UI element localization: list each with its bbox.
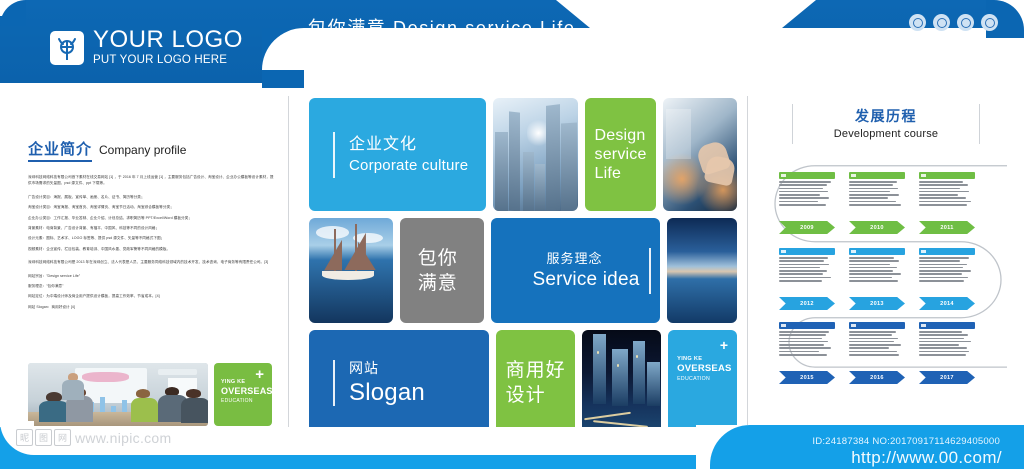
tile-row-2: 包你 满意 服务理念 Service idea	[309, 218, 737, 323]
target-icon[interactable]	[909, 14, 926, 31]
tile-bao-ni-man-yi[interactable]: 包你 满意	[400, 218, 484, 323]
tile-title-cn: 网站	[349, 359, 425, 378]
tile-badge-line-2: OVERSEAS	[677, 363, 731, 374]
timeline: 200920102011 201220132014 201520162017	[757, 158, 1015, 408]
timeline-card[interactable]	[849, 172, 905, 207]
timeline-card-header	[849, 172, 905, 179]
timeline-card-text-lines	[849, 257, 905, 282]
timeline-card[interactable]	[779, 172, 835, 207]
watermark-char-1: 昵	[16, 429, 33, 446]
tile-badge-line-1: YING KE	[677, 356, 731, 362]
timeline-card-header	[779, 172, 835, 179]
logo-subtitle: PUT YOUR LOGO HERE	[93, 53, 243, 67]
timeline-card-text-lines	[919, 257, 975, 282]
timeline-card[interactable]	[919, 172, 975, 207]
timeline-year-arrow[interactable]: 2009	[779, 221, 835, 234]
tile-corporate-culture[interactable]: 企业文化 Corporate culture	[309, 98, 486, 211]
timeline-card-header	[919, 172, 975, 179]
tile-title-en: Corporate culture	[349, 156, 468, 176]
timeline-card[interactable]	[849, 248, 905, 283]
heading-rule-left	[792, 104, 793, 144]
header-icon-group	[909, 14, 998, 31]
development-course-title-en: Development course	[786, 128, 986, 140]
target-icon[interactable]	[957, 14, 974, 31]
timeline-card-text-lines	[779, 257, 835, 282]
timeline-arrows-row-2: 201220132014	[779, 297, 1007, 310]
header-trapezoid-notch	[556, 0, 816, 30]
badge-line-3: EDUCATION	[221, 398, 266, 404]
profile-paragraph: 深圳科技网络科技有限公司首下素材在线交易网站 [1] ，于 2016 年 7 月…	[28, 174, 274, 187]
tile-sea-horizon-photo[interactable]	[667, 218, 737, 323]
header-top-left-notch	[0, 0, 26, 16]
tile-row-1: 企业文化 Corporate culture Design service Li…	[309, 98, 737, 211]
development-course-heading: 发展历程 Development course	[786, 100, 986, 144]
profile-paragraph: 广告设计类目：海报、展板、宣传单、画册、名片、证书、简历等分类；	[28, 194, 274, 200]
tile-commercial-good-design[interactable]: 商用好 设计	[496, 330, 576, 436]
logo[interactable]: YOUR LOGO PUT YOUR LOGO HERE	[50, 28, 243, 67]
timeline-year-arrow[interactable]: 2011	[919, 221, 975, 234]
timeline-card-header	[849, 248, 905, 255]
tile-accent-rule	[333, 360, 335, 406]
company-profile-section: 企业简介 Company profile 深圳科技网络科技有限公司首下素材在线交…	[28, 138, 274, 314]
logo-title: YOUR LOGO	[93, 28, 243, 52]
timeline-year-arrow[interactable]: 2015	[779, 371, 835, 384]
profile-paragraph: 网站宗旨："Design service Life"	[28, 273, 274, 279]
poster-canvas: YOUR LOGO PUT YOUR LOGO HERE 包你满意 Design…	[0, 0, 1024, 469]
timeline-card[interactable]	[779, 322, 835, 357]
company-profile-title-en: Company profile	[99, 143, 186, 157]
timeline-arrows-row-3: 201520162017	[779, 371, 1007, 384]
timeline-year-arrow[interactable]: 2017	[919, 371, 975, 384]
development-course-title-cn: 发展历程	[786, 106, 986, 126]
timeline-year-arrow[interactable]: 2012	[779, 297, 835, 310]
badge-line-2: OVERSEAS	[221, 386, 266, 396]
timeline-card[interactable]	[849, 322, 905, 357]
timeline-card[interactable]	[779, 248, 835, 283]
tile-title-en: Design service Life	[595, 126, 647, 183]
plus-icon: +	[255, 367, 264, 382]
divider-right	[747, 96, 748, 448]
profile-paragraph: 背景素材：电商背景、广告设计背景、有福平、中国风、科技等不同的设计风格；	[28, 225, 274, 231]
timeline-card-header	[779, 248, 835, 255]
tile-title-en: Service idea	[531, 267, 651, 292]
profile-paragraph: 深圳科技网络科技有限公司是 2013 年在深圳创立、法人代表是人员、主要服务同络…	[28, 259, 274, 265]
target-icon[interactable]	[981, 14, 998, 31]
tile-title-cn: 商用好 设计	[506, 358, 566, 408]
tile-sailing-ship-photo[interactable]	[309, 218, 393, 323]
tile-title-cn: 包你 满意	[418, 246, 458, 296]
timeline-card-text-lines	[919, 331, 975, 356]
timeline-card-header	[779, 322, 835, 329]
timeline-cards-row-3	[779, 322, 1007, 357]
bull-head-logo-icon	[50, 31, 84, 65]
timeline-cards-row-1	[779, 172, 1007, 207]
tile-business-tech-photo[interactable]	[663, 98, 737, 211]
profile-paragraph: 淘宝设计类目：淘宝海报、淘宝首页、淘宝详情页、淘宝节日活动、淘宝综合模板等分类；	[28, 204, 274, 210]
tile-website-slogan[interactable]: 网站 Slogan	[309, 330, 489, 436]
watermark-boxes: 昵 图 网	[16, 429, 71, 446]
tile-service-idea[interactable]: 服务理念 Service idea	[491, 218, 661, 323]
timeline-card-text-lines	[849, 331, 905, 356]
tile-title-cn: 企业文化	[349, 134, 468, 156]
company-profile-body: 深圳科技网络科技有限公司首下素材在线交易网站 [1] ，于 2016 年 7 月…	[28, 174, 274, 310]
profile-paragraph: 服务理念："包你满意"	[28, 283, 274, 289]
feature-tile-grid: 企业文化 Corporate culture Design service Li…	[309, 98, 737, 443]
profile-paragraph: 视频素材：企业宣传、栏目包装、教育培训、中国风水墨、党政军警等不同风格的模板。	[28, 246, 274, 252]
tile-title-en: Slogan	[349, 378, 425, 407]
heading-rule-right	[979, 104, 980, 144]
timeline-card-text-lines	[779, 331, 835, 356]
timeline-card-text-lines	[849, 181, 905, 206]
timeline-year-arrow[interactable]: 2016	[849, 371, 905, 384]
ying-ke-overseas-badge: + YING KE OVERSEAS EDUCATION	[214, 363, 272, 426]
footer-id-text: ID:24187384 NO:20170917114629405000	[812, 436, 1000, 447]
company-profile-title-cn: 企业简介	[28, 138, 92, 162]
timeline-year-arrow[interactable]: 2014	[919, 297, 975, 310]
timeline-arrows-row-1: 200920102011	[779, 221, 1007, 234]
tile-city-photo-bright[interactable]	[493, 98, 578, 211]
timeline-card-header	[919, 322, 975, 329]
timeline-card-text-lines	[919, 181, 975, 206]
header-white-cutout-corner	[262, 28, 304, 88]
timeline-card[interactable]	[919, 248, 975, 283]
footer-right-curve-mask	[696, 425, 756, 469]
watermark-char-3: 网	[54, 429, 71, 446]
footer-site-url: http://www.00.com/	[851, 448, 1002, 468]
logo-text: YOUR LOGO PUT YOUR LOGO HERE	[93, 28, 243, 67]
company-profile-heading: 企业简介 Company profile	[28, 138, 274, 162]
timeline-card-header	[919, 248, 975, 255]
header-title: 包你满意 Design service Life	[308, 14, 575, 40]
tile-badge-line-3: EDUCATION	[677, 376, 731, 382]
tile-row-3: 网站 Slogan 商用好 设计	[309, 330, 737, 436]
profile-paragraph: 企业办公类目：工作汇报、毕业答辩、企业介绍、计划总结、求职简历等 PPT/Exc…	[28, 215, 274, 221]
tile-accent-rule	[333, 132, 335, 178]
meeting-room-photo	[28, 363, 208, 426]
timeline-cards-row-2	[779, 248, 1007, 283]
watermark: 昵 图 网 www.nipic.com	[16, 429, 171, 446]
timeline-card-header	[849, 322, 905, 329]
timeline-year-arrow[interactable]: 2010	[849, 221, 905, 234]
tile-design-service-life[interactable]: Design service Life	[585, 98, 657, 211]
timeline-card[interactable]	[919, 322, 975, 357]
target-icon[interactable]	[933, 14, 950, 31]
tile-title-cn: 服务理念	[531, 250, 651, 267]
tile-accent-rule	[649, 248, 651, 294]
tile-ying-ke-overseas[interactable]: + YING KE OVERSEAS EDUCATION	[668, 330, 737, 436]
profile-paragraph: 网站 Slogan：商用好设计 [4]	[28, 304, 274, 310]
timeline-year-arrow[interactable]: 2013	[849, 297, 905, 310]
tile-night-city-photo[interactable]	[582, 330, 661, 436]
watermark-char-2: 图	[35, 429, 52, 446]
development-course-section: 发展历程 Development course 200920102011 201…	[757, 100, 1015, 408]
plus-icon: +	[720, 338, 728, 352]
timeline-card-text-lines	[779, 181, 835, 206]
left-photo-row: + YING KE OVERSEAS EDUCATION	[28, 363, 272, 426]
profile-paragraph: 设计元素：图标、艺术字、LOGO 标签等、提供 psd 源文件、矢量等不同格式下…	[28, 235, 274, 241]
divider-left	[288, 96, 289, 448]
watermark-url: www.nipic.com	[75, 430, 171, 446]
profile-paragraph: 网站定位：为中端设计师及商企用户提供设计模板，提高工作效率，节省成本。[4]	[28, 293, 274, 299]
